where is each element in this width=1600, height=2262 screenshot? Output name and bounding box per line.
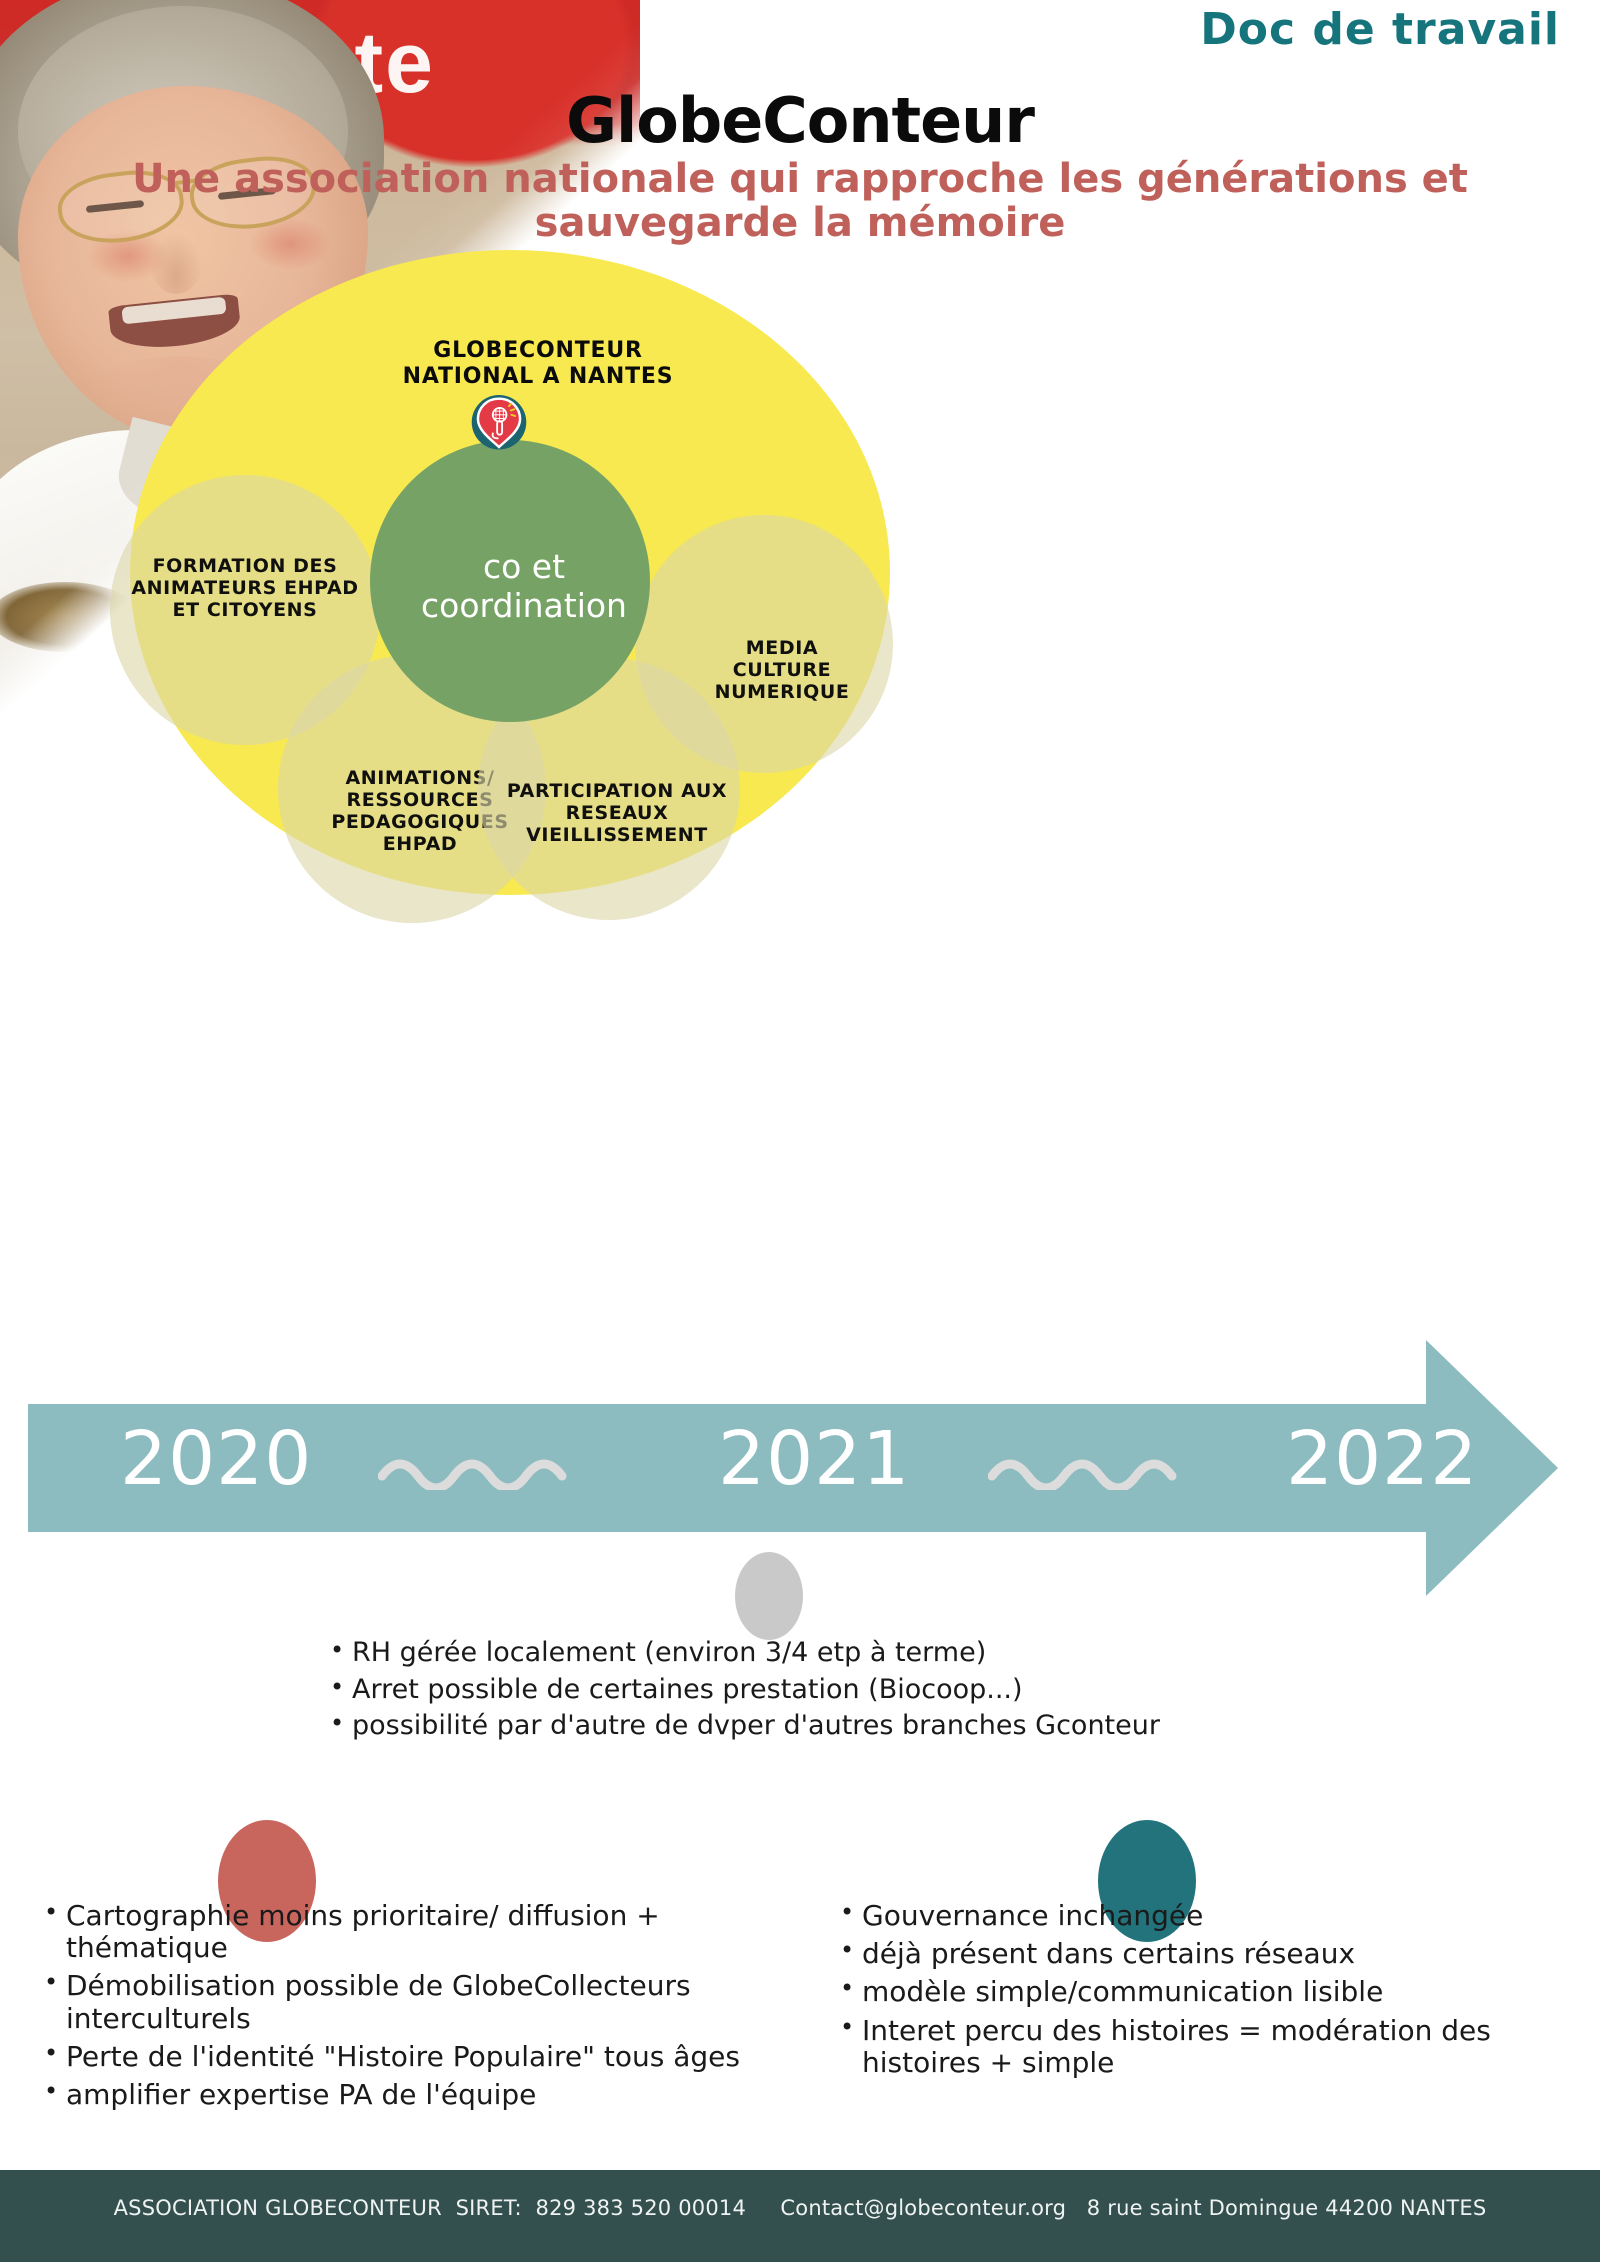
doc-status-tag: Doc de travail: [1200, 4, 1560, 55]
list-item: RH gérée localement (environ 3/4 etp à t…: [330, 1636, 1400, 1671]
timeline-year-2020: 2020: [120, 1416, 312, 1502]
middle-notes-marker-dot: [735, 1552, 803, 1640]
footer-contact-text: ASSOCIATION GLOBECONTEUR SIRET: 829 383 …: [0, 2196, 1600, 2220]
list-item: Gouvernance inchangée: [840, 1900, 1600, 1932]
left-column-list: Cartographie moins prioritaire/ diffusio…: [14, 1900, 774, 2111]
list-item: Démobilisation possible de GlobeCollecte…: [44, 1970, 774, 2034]
venn-center-label: co et coordination: [421, 548, 627, 626]
brand-block: GlobeConteur Une association nationale q…: [0, 88, 1600, 245]
venn-center-circle[interactable]: co et coordination: [370, 440, 650, 722]
timeline-year-2021: 2021: [718, 1416, 910, 1502]
list-item: Cartographie moins prioritaire/ diffusio…: [44, 1900, 774, 1964]
venn-top-label: GLOBECONTEUR NATIONAL A NANTES: [148, 338, 928, 391]
venn-diagram: FORMATION DES ANIMATEURS EHPAD ET CITOYE…: [130, 250, 910, 910]
globeconteur-pin-microphone-logo: [468, 390, 530, 452]
right-column-list: Gouvernance inchangée déjà présent dans …: [810, 1900, 1600, 2079]
timeline-wave-separator-1: [378, 1450, 628, 1490]
list-item: amplifier expertise PA de l'équipe: [44, 2079, 774, 2111]
page-title: GlobeConteur: [0, 88, 1600, 153]
middle-notes-block: RH gérée localement (environ 3/4 etp à t…: [300, 1636, 1400, 1746]
left-column-block: Cartographie moins prioritaire/ diffusio…: [14, 1900, 774, 2117]
timeline-arrow: 2020 2021 2022: [28, 1404, 1558, 1589]
venn-lobe-media-label: MEDIA CULTURE NUMERIQUE: [705, 637, 860, 703]
list-item: possibilité par d'autre de dvper d'autre…: [330, 1709, 1400, 1744]
list-item: modèle simple/communication lisible: [840, 1976, 1600, 2008]
timeline-year-2022: 2022: [1286, 1416, 1478, 1502]
venn-lobe-reseaux-label: PARTICIPATION AUX RESEAUX VIEILLISSEMENT: [497, 780, 737, 846]
right-column-block: Gouvernance inchangée déjà présent dans …: [810, 1900, 1600, 2085]
timeline-wave-separator-2: [988, 1450, 1238, 1490]
page-subtitle: Une association nationale qui rapproche …: [0, 157, 1600, 245]
venn-lobe-formation-label: FORMATION DES ANIMATEURS EHPAD ET CITOYE…: [121, 555, 368, 621]
list-item: Interet percu des histoires = modération…: [840, 2015, 1600, 2079]
list-item: Perte de l'identité "Histoire Populaire"…: [44, 2041, 774, 2073]
middle-notes-list: RH gérée localement (environ 3/4 etp à t…: [300, 1636, 1400, 1744]
footer-bar: ASSOCIATION GLOBECONTEUR SIRET: 829 383 …: [0, 2170, 1600, 2262]
list-item: Arret possible de certaines prestation (…: [330, 1673, 1400, 1708]
list-item: déjà présent dans certains réseaux: [840, 1938, 1600, 1970]
